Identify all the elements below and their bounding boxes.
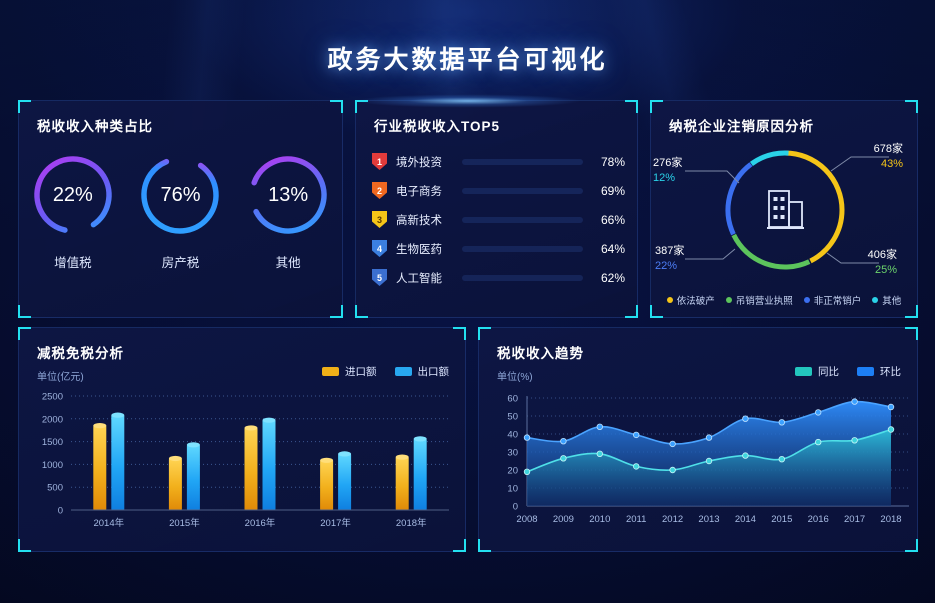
legend-item-license-revoked[interactable]: 吊销营业执照 bbox=[726, 293, 793, 307]
bar-chart-gridlines bbox=[71, 396, 449, 487]
legend-item-abnormal[interactable]: 非正常销户 bbox=[804, 293, 862, 307]
corner-bracket-icon bbox=[453, 539, 466, 552]
legend-item-other[interactable]: 其他 bbox=[872, 293, 901, 307]
panel-title-tax-trend: 税收收入趋势 bbox=[497, 342, 584, 362]
legend-label: 环比 bbox=[880, 364, 901, 379]
gauge-item[interactable]: 76% 房产税 bbox=[132, 151, 228, 271]
bar-chart-y-axis: 05001000150020002500 bbox=[42, 392, 63, 517]
svg-text:2013: 2013 bbox=[698, 514, 719, 525]
donut-segment-license-revoked[interactable] bbox=[709, 134, 861, 286]
gauge-label-1: 房产税 bbox=[132, 252, 228, 271]
page-title: 政务大数据平台可视化 bbox=[0, 40, 935, 76]
corner-bracket-icon bbox=[330, 305, 343, 318]
legend-label: 进口额 bbox=[345, 364, 377, 379]
rank-bar-track bbox=[462, 159, 583, 165]
chart-unit-label: 单位(%) bbox=[497, 368, 533, 383]
svg-text:2009: 2009 bbox=[553, 514, 574, 525]
legend-dot-icon bbox=[872, 297, 878, 303]
trend-chart-areas bbox=[527, 401, 891, 506]
corner-bracket-icon bbox=[625, 305, 638, 318]
svg-text:2008: 2008 bbox=[516, 514, 537, 525]
svg-text:2015: 2015 bbox=[771, 514, 792, 525]
corner-bracket-icon bbox=[905, 100, 918, 113]
gauge-label-2: 其他 bbox=[240, 252, 336, 271]
rank-badge-icon: 2 bbox=[372, 182, 387, 199]
rank-bar-track bbox=[462, 246, 583, 252]
svg-text:1000: 1000 bbox=[42, 460, 63, 471]
svg-text:2012: 2012 bbox=[662, 514, 683, 525]
rank-name: 生物医药 bbox=[396, 241, 454, 257]
donut-legend: 依法破产 吊销营业执照 非正常销户 其他 bbox=[651, 293, 917, 307]
gauge-value-0: 22% bbox=[29, 151, 117, 239]
svg-text:60: 60 bbox=[507, 394, 518, 405]
trend-chart-y-axis: 0102030405060 bbox=[507, 394, 518, 513]
bar-chart-bars bbox=[93, 413, 426, 510]
rank-value: 69% bbox=[591, 184, 625, 198]
panel-industry-top5: 行业税收收入TOP5 1 境外投资 78% 2 电子商务 69% 3 高新技术 … bbox=[355, 100, 638, 318]
gauge-value-2: 13% bbox=[244, 151, 332, 239]
panel-tax-reduction-analysis: 减税免税分析 单位(亿元) 进口额 出口额 050010001500200025… bbox=[18, 327, 466, 552]
rank-name: 电子商务 bbox=[396, 183, 454, 199]
svg-text:2500: 2500 bbox=[42, 392, 63, 403]
panel-title-industry-top5: 行业税收收入TOP5 bbox=[374, 115, 500, 135]
legend-label: 吊销营业执照 bbox=[736, 293, 793, 307]
donut-label-2: 387家 22% bbox=[655, 242, 707, 272]
gauge-ring-0: 22% bbox=[29, 151, 117, 239]
bar-chart-legend: 进口额 出口额 bbox=[322, 364, 449, 379]
corner-bracket-icon bbox=[905, 327, 918, 340]
corner-bracket-icon bbox=[625, 100, 638, 113]
donut-chart: 678家 43% 276家 12% 387家 22% 406家 25% bbox=[651, 131, 917, 286]
rank-badge-icon: 3 bbox=[372, 211, 387, 228]
legend-item-mom[interactable]: 环比 bbox=[857, 364, 901, 379]
donut-segment-abnormal[interactable] bbox=[709, 134, 861, 286]
corner-bracket-icon bbox=[905, 539, 918, 552]
svg-text:2014年: 2014年 bbox=[93, 517, 124, 529]
svg-text:50: 50 bbox=[507, 412, 518, 423]
rank-bar-track bbox=[462, 188, 583, 194]
panel-title-tax-reduction: 减税免税分析 bbox=[37, 342, 124, 362]
rank-badge-icon: 4 bbox=[372, 240, 387, 257]
corner-bracket-icon bbox=[18, 539, 31, 552]
top5-list: 1 境外投资 78% 2 电子商务 69% 3 高新技术 66% 4 生物医药 … bbox=[372, 147, 625, 292]
svg-text:40: 40 bbox=[507, 430, 518, 441]
rank-badge-icon: 5 bbox=[372, 269, 387, 286]
svg-text:2016年: 2016年 bbox=[245, 517, 276, 529]
svg-text:30: 30 bbox=[507, 448, 518, 459]
gauge-ring-1: 76% bbox=[136, 151, 224, 239]
gauge-item[interactable]: 22% 增值税 bbox=[25, 151, 121, 271]
svg-text:500: 500 bbox=[47, 483, 63, 494]
rank-value: 78% bbox=[591, 155, 625, 169]
corner-bracket-icon bbox=[18, 100, 31, 113]
list-item[interactable]: 4 生物医药 64% bbox=[372, 234, 625, 263]
corner-bracket-icon bbox=[355, 305, 368, 318]
panel-cancellation-reasons: 纳税企业注销原因分析 bbox=[650, 100, 918, 318]
gauge-label-0: 增值税 bbox=[25, 252, 121, 271]
gauge-group: 22% 增值税 76% 房产税 bbox=[19, 151, 342, 271]
svg-text:2015年: 2015年 bbox=[169, 517, 200, 529]
svg-text:2017: 2017 bbox=[844, 514, 865, 525]
legend-item-import[interactable]: 进口额 bbox=[322, 364, 377, 379]
svg-text:0: 0 bbox=[58, 506, 63, 517]
chart-unit-label: 单位(亿元) bbox=[37, 368, 84, 383]
trend-chart-x-axis: 2008200920102011201220132014201520162017… bbox=[516, 514, 901, 525]
legend-swatch-icon bbox=[322, 367, 339, 376]
corner-bracket-icon bbox=[453, 327, 466, 340]
legend-item-bankruptcy[interactable]: 依法破产 bbox=[667, 293, 715, 307]
svg-text:1500: 1500 bbox=[42, 437, 63, 448]
legend-dot-icon bbox=[726, 297, 732, 303]
svg-text:2018年: 2018年 bbox=[396, 517, 427, 529]
list-item[interactable]: 2 电子商务 69% bbox=[372, 176, 625, 205]
rank-badge-icon: 1 bbox=[372, 153, 387, 170]
bar-chart-svg[interactable]: 05001000150020002500 2014年2015年2016年2017… bbox=[19, 390, 467, 540]
gauge-ring-2: 13% bbox=[244, 151, 332, 239]
corner-bracket-icon bbox=[18, 327, 31, 340]
list-item[interactable]: 3 高新技术 66% bbox=[372, 205, 625, 234]
bar-chart-x-axis: 2014年2015年2016年2017年2018年 bbox=[93, 517, 427, 529]
svg-text:20: 20 bbox=[507, 466, 518, 477]
panel-tax-type-share: 税收收入种类占比 22% 增值税 bbox=[18, 100, 343, 318]
title-glow bbox=[318, 92, 618, 110]
page-header: 政务大数据平台可视化 bbox=[0, 40, 935, 76]
donut-label-3: 276家 12% bbox=[653, 154, 705, 184]
rank-name: 境外投资 bbox=[396, 154, 454, 170]
svg-text:2000: 2000 bbox=[42, 414, 63, 425]
gauge-value-1: 76% bbox=[136, 151, 224, 239]
legend-swatch-icon bbox=[795, 367, 812, 376]
rank-bar-track bbox=[462, 275, 583, 281]
svg-text:2017年: 2017年 bbox=[320, 517, 351, 529]
legend-dot-icon bbox=[804, 297, 810, 303]
legend-label: 依法破产 bbox=[677, 293, 715, 307]
legend-label: 同比 bbox=[818, 364, 839, 379]
legend-dot-icon bbox=[667, 297, 673, 303]
rank-name: 人工智能 bbox=[396, 270, 454, 286]
legend-item-yoy[interactable]: 同比 bbox=[795, 364, 839, 379]
rank-value: 62% bbox=[591, 271, 625, 285]
corner-bracket-icon bbox=[18, 305, 31, 318]
corner-bracket-icon bbox=[650, 100, 663, 113]
legend-swatch-icon bbox=[395, 367, 412, 376]
building-icon bbox=[767, 191, 804, 229]
legend-label: 其他 bbox=[882, 293, 901, 307]
panel-title-tax-type-share: 税收收入种类占比 bbox=[37, 115, 153, 135]
svg-text:2014: 2014 bbox=[735, 514, 756, 525]
svg-text:2018: 2018 bbox=[880, 514, 901, 525]
panel-tax-revenue-trend: 税收收入趋势 单位(%) 同比 环比 0102030405060 2008200… bbox=[478, 327, 918, 552]
svg-text:10: 10 bbox=[507, 484, 518, 495]
legend-item-export[interactable]: 出口额 bbox=[395, 364, 450, 379]
rank-value: 64% bbox=[591, 242, 625, 256]
donut-label-0: 678家 43% bbox=[847, 140, 903, 170]
rank-name: 高新技术 bbox=[396, 212, 454, 228]
legend-swatch-icon bbox=[857, 367, 874, 376]
corner-bracket-icon bbox=[478, 327, 491, 340]
svg-text:2016: 2016 bbox=[808, 514, 829, 525]
gauge-item[interactable]: 13% 其他 bbox=[240, 151, 336, 271]
trend-chart-svg[interactable]: 0102030405060 20082009201020112012201320… bbox=[479, 388, 919, 540]
list-item[interactable]: 5 人工智能 62% bbox=[372, 263, 625, 292]
svg-text:2011: 2011 bbox=[626, 514, 646, 525]
svg-text:2010: 2010 bbox=[589, 514, 610, 525]
corner-bracket-icon bbox=[478, 539, 491, 552]
legend-label: 出口额 bbox=[418, 364, 450, 379]
legend-label: 非正常销户 bbox=[814, 293, 862, 307]
rank-bar-track bbox=[462, 217, 583, 223]
svg-text:0: 0 bbox=[513, 502, 518, 513]
list-item[interactable]: 1 境外投资 78% bbox=[372, 147, 625, 176]
rank-value: 66% bbox=[591, 213, 625, 227]
donut-label-1: 406家 25% bbox=[841, 246, 897, 276]
trend-chart-legend: 同比 环比 bbox=[795, 364, 901, 379]
